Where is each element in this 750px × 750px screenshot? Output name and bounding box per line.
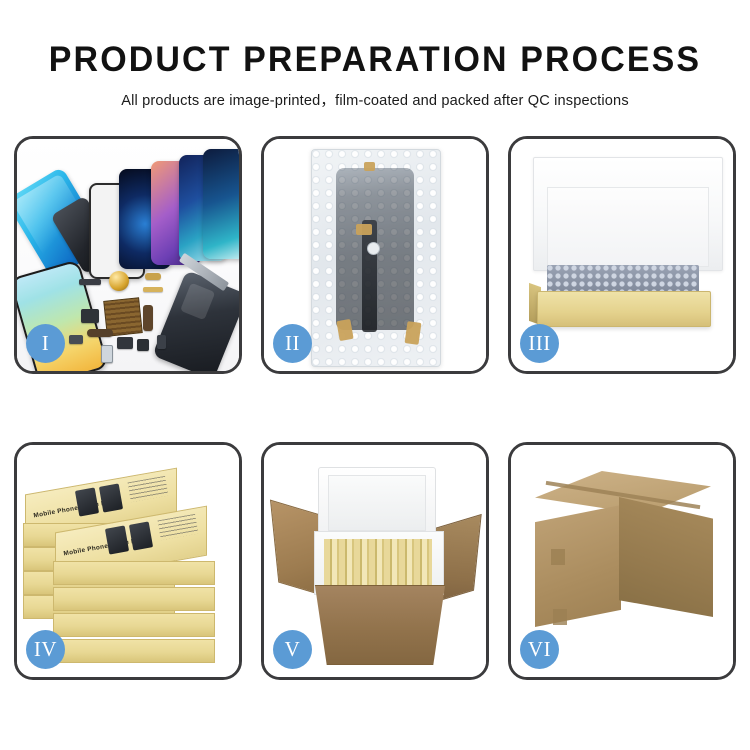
- spare-part-icon: [69, 335, 83, 344]
- bubble-wrap-bag-icon: [311, 149, 441, 367]
- spare-part-icon: [101, 345, 113, 363]
- carton-side-face-icon: [619, 497, 713, 617]
- white-lid-inner-icon: [547, 187, 709, 267]
- camera-hole-icon: [367, 242, 380, 255]
- step-badge-4: IV: [26, 630, 65, 669]
- box-product-image-icon: [129, 521, 153, 550]
- screen-lineup: [89, 157, 229, 277]
- spare-part-icon: [143, 305, 153, 331]
- yellow-box-tray-icon: [537, 291, 711, 327]
- process-step-panel-6[interactable]: VI: [508, 442, 736, 680]
- spare-part-icon: [145, 273, 161, 280]
- header: PRODUCT PREPARATION PROCESS All products…: [0, 0, 750, 110]
- yellow-boxes-inside-icon: [324, 539, 432, 585]
- spare-part-icon: [157, 335, 166, 349]
- step-badge-5: V: [273, 630, 312, 669]
- page-subtitle: All products are image-printed，film-coat…: [0, 80, 750, 110]
- process-step-panel-3[interactable]: III: [508, 136, 736, 374]
- spare-part-icon: [79, 279, 101, 285]
- tape-icon: [356, 224, 372, 235]
- page-title: PRODUCT PREPARATION PROCESS: [11, 0, 739, 80]
- step-badge-3: III: [520, 324, 559, 363]
- carton-tape-icon: [551, 549, 565, 565]
- box-product-image-icon: [99, 483, 123, 512]
- carton-body-icon: [306, 585, 454, 665]
- carton-front-face-icon: [535, 505, 621, 627]
- step-badge-1: I: [26, 324, 65, 363]
- spare-part-icon: [137, 339, 149, 351]
- box-edge-icon: [53, 639, 215, 663]
- tape-icon: [364, 162, 375, 171]
- step-badge-6: VI: [520, 630, 559, 669]
- box-product-image-icon: [105, 525, 129, 554]
- gold-component-icon: [109, 271, 129, 291]
- box-edge-icon: [53, 561, 215, 585]
- process-step-panel-4[interactable]: Mobile Phone Spare Parts Mobile Phone Sp…: [14, 442, 242, 680]
- process-step-panel-2[interactable]: II: [261, 136, 489, 374]
- foam-lid-inner-icon: [328, 475, 426, 531]
- process-step-panel-1[interactable]: I: [14, 136, 242, 374]
- lcd-screen-icon: [203, 149, 239, 259]
- flex-cable-icon: [362, 220, 377, 332]
- tape-icon: [405, 321, 422, 345]
- spare-part-icon: [87, 329, 113, 337]
- process-step-panel-5[interactable]: V: [261, 442, 489, 680]
- process-step-grid: I II: [14, 136, 736, 680]
- spare-part-icon: [143, 287, 163, 292]
- spare-part-icon: [81, 309, 99, 323]
- box-edge-icon: [53, 613, 215, 637]
- box-product-image-icon: [75, 487, 99, 516]
- box-edge-icon: [53, 587, 215, 611]
- spare-part-icon: [117, 337, 133, 349]
- carton-tape-icon: [553, 609, 567, 625]
- step-badge-2: II: [273, 324, 312, 363]
